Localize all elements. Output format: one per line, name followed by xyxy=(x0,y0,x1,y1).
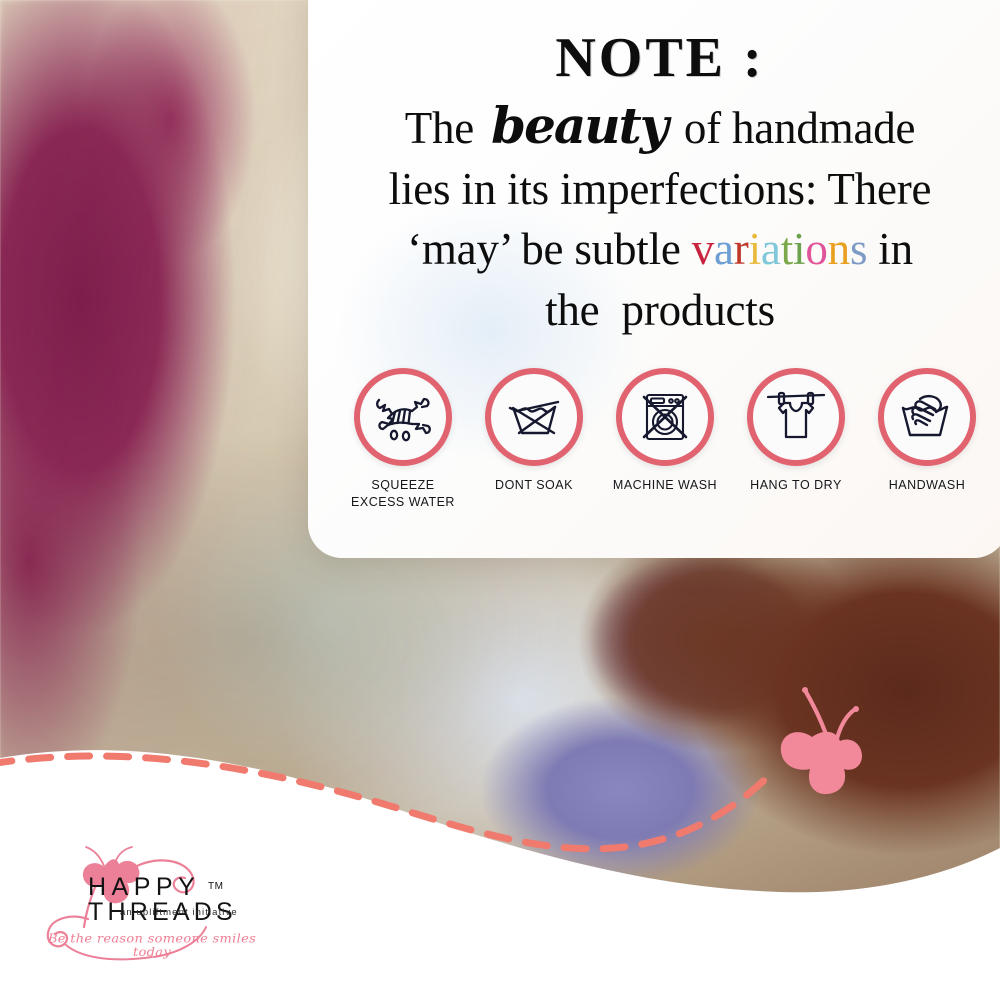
variations-letter: r xyxy=(734,224,749,274)
wrung-cloth-icon xyxy=(372,391,434,443)
handwash-basin-icon xyxy=(897,391,957,443)
care-item-handwash: HANDWASH xyxy=(868,368,986,494)
variations-letter: n xyxy=(828,224,850,274)
variations-letter: o xyxy=(805,224,827,274)
promo-graphic: NOTE : The beauty of handmade lies in it… xyxy=(0,0,1000,1000)
brand-logo[interactable]: HAPPY THREADS TM an upliftment initiativ… xyxy=(36,845,266,975)
note-emphasis-variations: variations xyxy=(692,224,868,274)
note-text-segment: the products xyxy=(545,285,775,335)
care-icon-ring xyxy=(485,368,583,466)
note-text-segment: of handmade xyxy=(673,103,916,153)
logo-tagline: Be the reason someone smiles today xyxy=(42,932,262,960)
care-item-squeeze-excess-water: SQUEEZE EXCESS WATER xyxy=(344,368,462,510)
note-body: The beauty of handmade lies in its imper… xyxy=(330,92,990,340)
variations-letter: t xyxy=(781,224,793,274)
variations-letter: i xyxy=(793,224,805,274)
variations-letter: s xyxy=(850,224,867,274)
note-line-4: the products xyxy=(330,280,990,340)
care-item-machine-wash: MACHINE WASH xyxy=(606,368,724,494)
hang-to-dry-icon xyxy=(765,389,827,445)
no-soak-basin-icon xyxy=(504,392,564,442)
care-icon-ring xyxy=(616,368,714,466)
care-item-label: HANG TO DRY xyxy=(750,477,842,494)
care-icon-ring xyxy=(747,368,845,466)
no-machine-wash-icon xyxy=(637,389,693,445)
logo-subtitle: an upliftment initiative xyxy=(120,907,238,918)
note-text-segment: lies in its imperfections: There xyxy=(389,164,932,214)
note-line-3: ‘may’ be subtle variations in xyxy=(330,219,990,279)
variations-letter: i xyxy=(749,224,761,274)
care-item-hang-to-dry: HANG TO DRY xyxy=(737,368,855,494)
care-item-label: MACHINE WASH xyxy=(613,477,717,494)
care-item-label: DONT SOAK xyxy=(495,477,573,494)
note-emphasis-beauty: beauty xyxy=(485,96,673,155)
note-heading: NOTE : xyxy=(330,30,990,86)
variations-letter: a xyxy=(714,224,734,274)
note-content: NOTE : The beauty of handmade lies in it… xyxy=(330,18,990,340)
note-text-segment: in xyxy=(867,224,913,274)
care-item-label: SQUEEZE EXCESS WATER xyxy=(344,477,462,510)
care-icon-ring xyxy=(354,368,452,466)
care-item-dont-soak: DONT SOAK xyxy=(475,368,593,494)
care-item-label: HANDWASH xyxy=(889,477,965,494)
care-instructions-row: SQUEEZE EXCESS WATER DONT SOAK xyxy=(330,368,1000,510)
note-text-segment: The xyxy=(405,103,485,153)
note-text-segment: ‘may’ be subtle xyxy=(407,224,692,274)
care-icon-ring xyxy=(878,368,976,466)
variations-letter: a xyxy=(761,224,781,274)
logo-trademark: TM xyxy=(208,881,223,892)
variations-letter: v xyxy=(692,224,714,274)
note-line-1: The beauty of handmade xyxy=(330,92,990,159)
note-line-2: lies in its imperfections: There xyxy=(330,159,990,219)
